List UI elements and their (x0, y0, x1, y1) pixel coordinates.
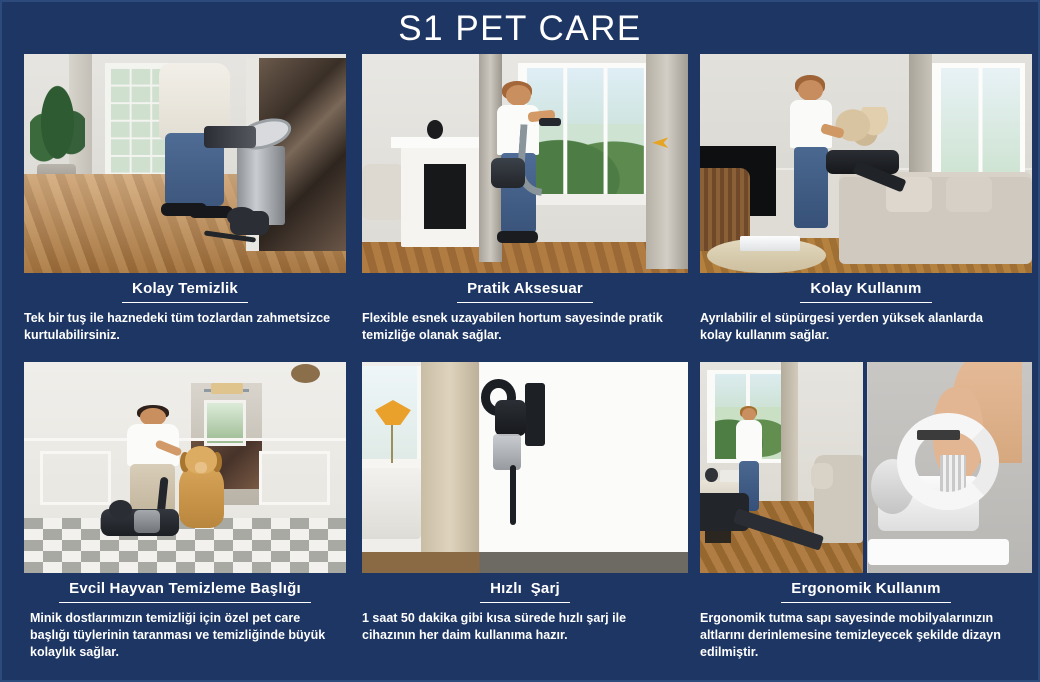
feature-card-ergonomik-kullanim: Ergonomik Kullanım Ergonomik tutma sapı … (700, 362, 1040, 680)
feature-heading: Kolay Kullanım (800, 280, 931, 303)
feature-heading: Evcil Hayvan Temizleme Başlığı (59, 580, 311, 603)
feature-heading: Hızlı Şarj (480, 580, 570, 603)
feature-card-pratik-aksesuar: Pratik Aksesuar Flexible esnek uzayabile… (360, 54, 700, 362)
feature-image-pratik-aksesuar (362, 54, 688, 273)
feature-body: Flexible esnek uzayabilen hortum sayesin… (362, 310, 688, 344)
feature-card-evcil-hayvan-temizleme-basligi: Evcil Hayvan Temizleme Başlığı Minik dos… (2, 362, 360, 680)
caption-kolay-temizlik: Kolay Temizlik Tek bir tuş ile haznedeki… (24, 273, 346, 344)
infographic-page: S1 PET CARE (0, 0, 1040, 682)
feature-image-evcil-hayvan (24, 362, 346, 573)
feature-card-kolay-kullanim: Kolay Kullanım Ayrılabilir el süpürgesi … (700, 54, 1040, 362)
caption-evcil-hayvan: Evcil Hayvan Temizleme Başlığı Minik dos… (24, 573, 346, 660)
feature-image-hizli-sarj (362, 362, 688, 573)
feature-card-hizli-sarj: Hızlı Şarj 1 saat 50 dakika gibi kısa sü… (360, 362, 700, 680)
caption-pratik-aksesuar: Pratik Aksesuar Flexible esnek uzayabile… (362, 273, 688, 344)
feature-card-kolay-temizlik: Kolay Temizlik Tek bir tuş ile haznedeki… (2, 54, 360, 362)
feature-image-ergonomik-kullanim (700, 362, 1032, 573)
title-bar: S1 PET CARE (2, 2, 1038, 54)
caption-hizli-sarj: Hızlı Şarj 1 saat 50 dakika gibi kısa sü… (362, 573, 688, 644)
feature-body: Ergonomik tutma sapı sayesinde mobilyala… (700, 610, 1032, 661)
feature-heading: Kolay Temizlik (122, 280, 248, 303)
feature-body: Ayrılabilir el süpürgesi yerden yüksek a… (700, 310, 1032, 344)
feature-image-kolay-temizlik (24, 54, 346, 273)
feature-heading: Pratik Aksesuar (457, 280, 593, 303)
feature-heading: Ergonomik Kullanım (781, 580, 950, 603)
caption-ergonomik-kullanim: Ergonomik Kullanım Ergonomik tutma sapı … (700, 573, 1032, 660)
page-title: S1 PET CARE (398, 11, 641, 46)
feature-body: 1 saat 50 dakika gibi kısa sürede hızlı … (362, 610, 688, 644)
feature-body: Minik dostlarımızın temizliği için özel … (24, 610, 346, 661)
caption-kolay-kullanim: Kolay Kullanım Ayrılabilir el süpürgesi … (700, 273, 1032, 344)
feature-grid: Kolay Temizlik Tek bir tuş ile haznedeki… (2, 54, 1038, 680)
feature-image-kolay-kullanim (700, 54, 1032, 273)
feature-body: Tek bir tuş ile haznedeki tüm tozlardan … (24, 310, 346, 344)
